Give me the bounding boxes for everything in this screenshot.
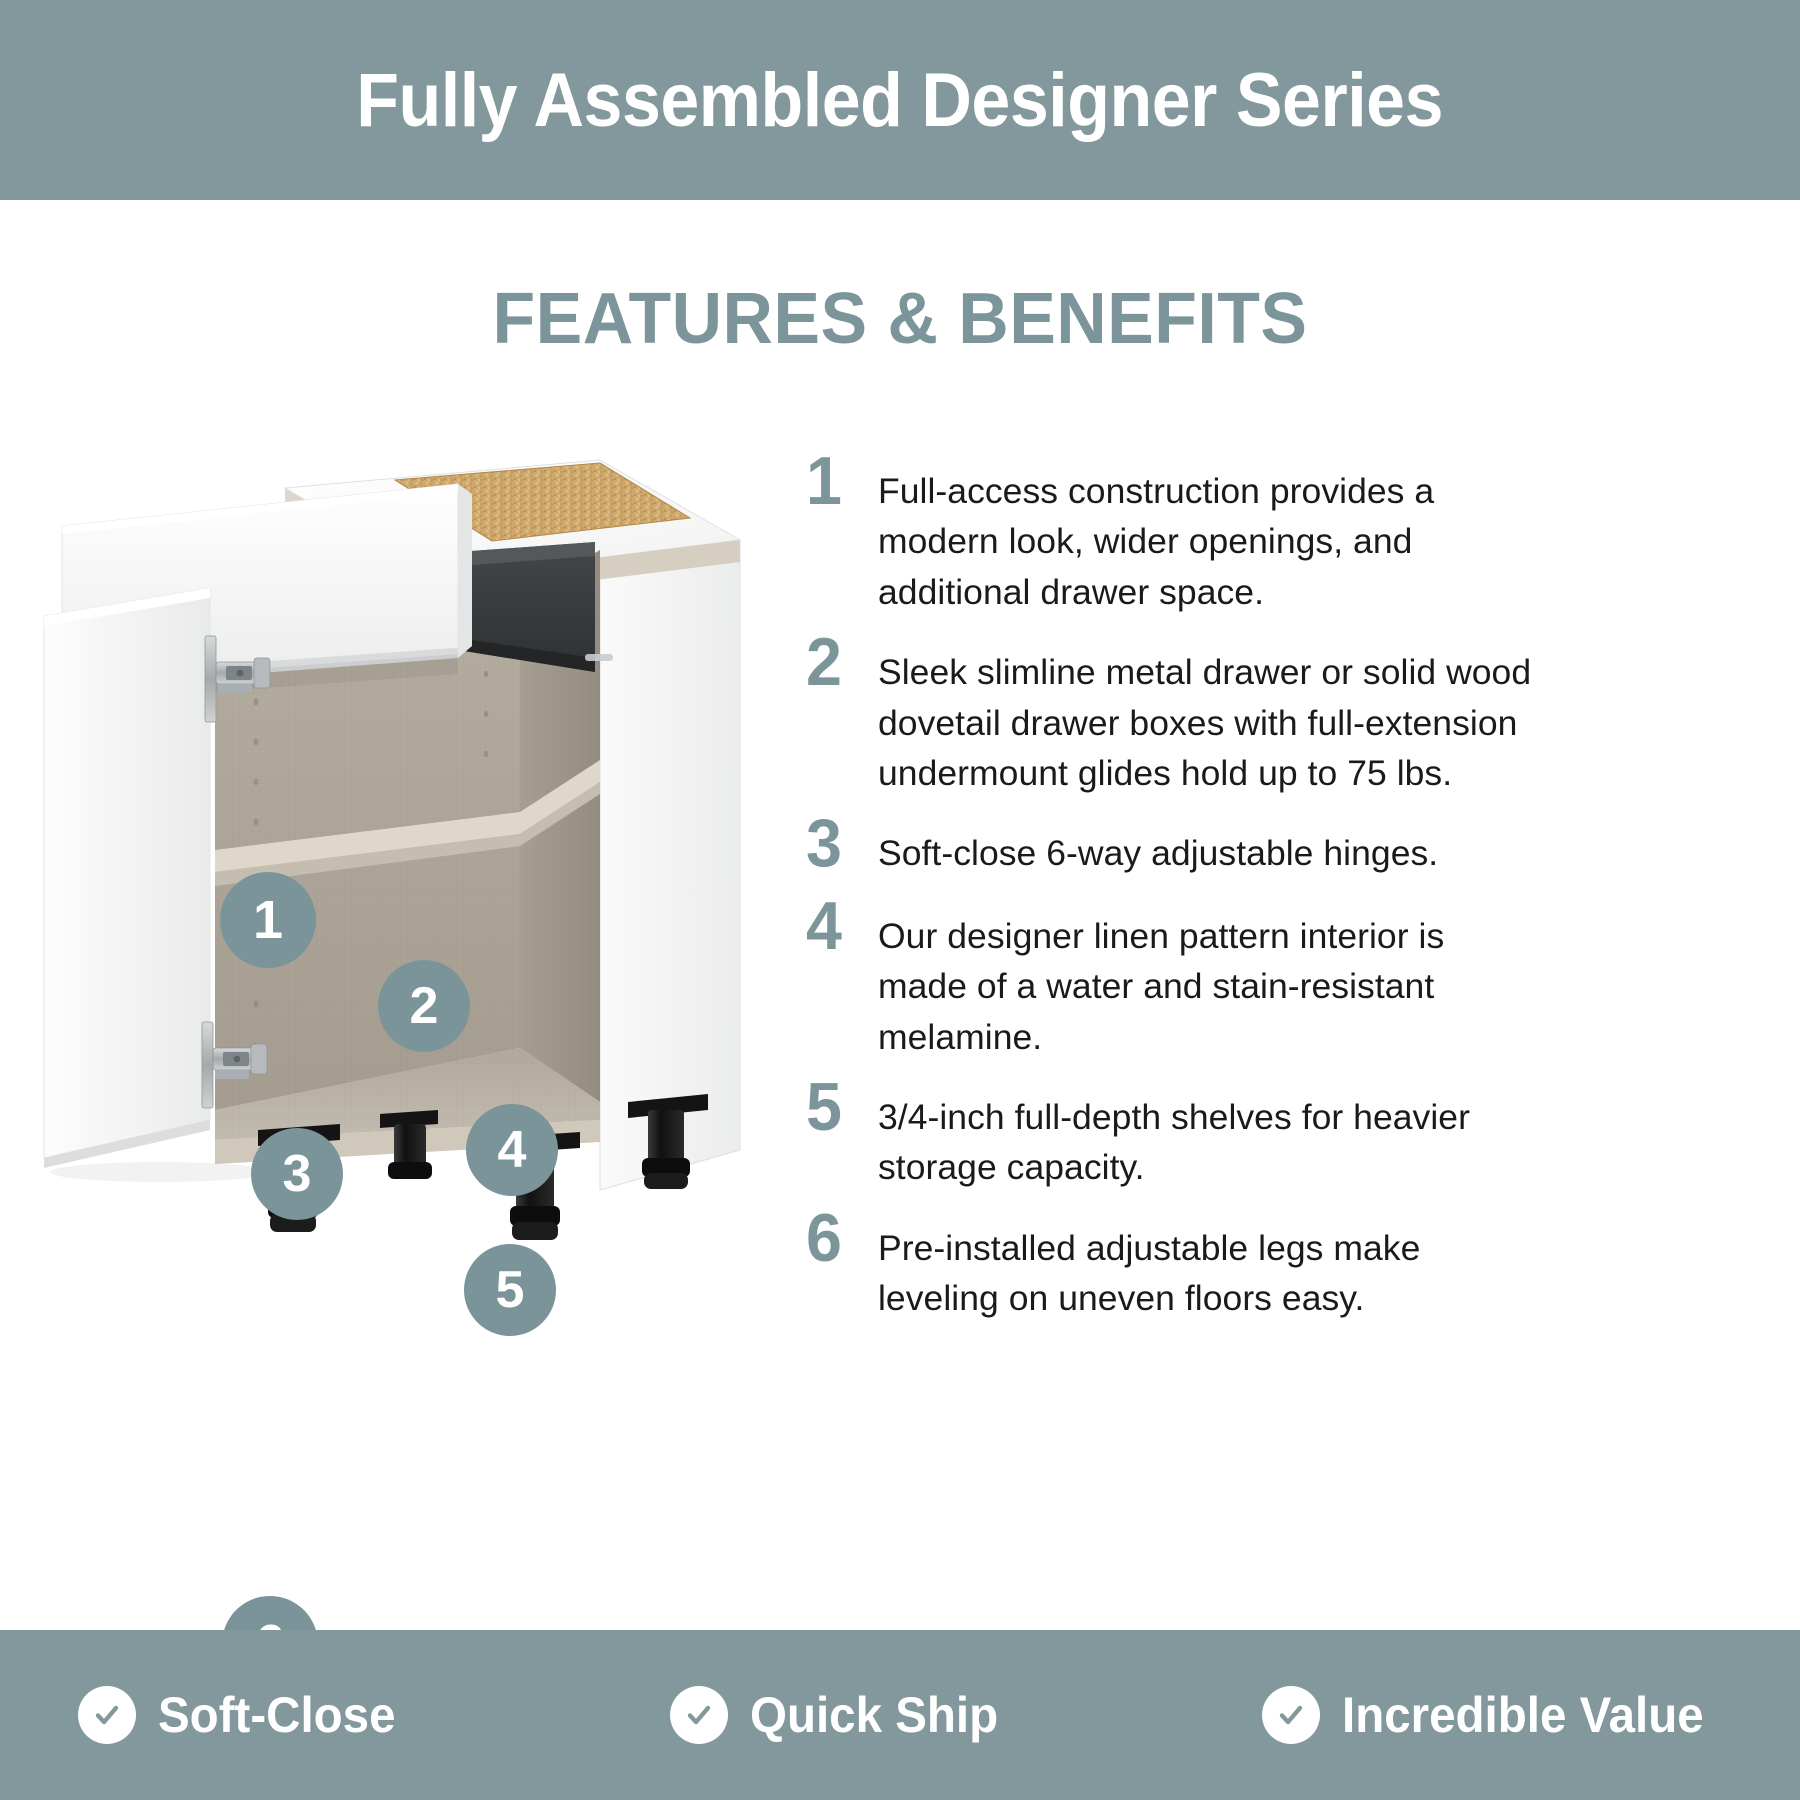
footer-item-quick-ship: Quick Ship — [670, 1686, 1011, 1744]
section-heading: FEATURES & BENEFITS — [27, 278, 1773, 360]
feature-text-3: Soft-close 6-way adjustable hinges. — [878, 814, 1536, 878]
feature-number-4: 4 — [806, 897, 874, 955]
feature-item-1: 1 Full-access construction provides a mo… — [806, 452, 1536, 617]
feature-number-6: 6 — [806, 1209, 874, 1267]
footer-item-soft-close: Soft-Close — [78, 1686, 408, 1744]
cabinet-side-panel — [600, 508, 740, 1190]
footer-label-incredible-value: Incredible Value — [1342, 1686, 1704, 1744]
cabinet-door-panel — [44, 588, 210, 1158]
undermount-glide — [585, 654, 613, 661]
callout-badge-3[interactable]: 3 — [251, 1128, 343, 1220]
feature-item-5: 5 3/4-inch full-depth shelves for heavie… — [806, 1078, 1536, 1193]
check-circle-icon — [78, 1686, 136, 1744]
feature-text-4: Our designer linen pattern interior is m… — [878, 897, 1536, 1062]
callout-badge-2[interactable]: 2 — [378, 960, 470, 1052]
callout-badge-1[interactable]: 1 — [220, 872, 316, 968]
feature-number-3: 3 — [806, 814, 874, 872]
header-bar: Fully Assembled Designer Series — [0, 0, 1800, 200]
drawer-front-right-edge — [458, 484, 472, 658]
check-circle-icon — [1262, 1686, 1320, 1744]
feature-item-2: 2 Sleek slimline metal drawer or solid w… — [806, 633, 1536, 798]
page-title: Fully Assembled Designer Series — [357, 57, 1444, 144]
feature-number-2: 2 — [806, 633, 874, 691]
cabinet-diagram-svg — [40, 430, 800, 1320]
feature-text-1: Full-access construction provides a mode… — [878, 452, 1536, 617]
callout-badge-5-label: 5 — [496, 1264, 525, 1316]
footer-label-quick-ship: Quick Ship — [750, 1686, 998, 1744]
infographic-page: Fully Assembled Designer Series FEATURES… — [0, 0, 1800, 1800]
feature-text-2: Sleek slimline metal drawer or solid woo… — [878, 633, 1536, 798]
check-circle-icon — [670, 1686, 728, 1744]
footer-label-soft-close: Soft-Close — [158, 1686, 396, 1744]
feature-text-5: 3/4-inch full-depth shelves for heavier … — [878, 1078, 1536, 1193]
footer-item-incredible-value: Incredible Value — [1262, 1686, 1723, 1744]
feature-item-6: 6 Pre-installed adjustable legs make lev… — [806, 1209, 1536, 1324]
callout-badge-2-label: 2 — [410, 980, 439, 1032]
footer-bar: Soft-Close Quick Ship Incredible Value — [0, 1630, 1800, 1800]
feature-number-5: 5 — [806, 1078, 874, 1136]
callout-badge-1-label: 1 — [253, 893, 283, 947]
feature-number-1: 1 — [806, 452, 874, 510]
callout-badge-4-label: 4 — [498, 1124, 527, 1176]
callout-badge-3-label: 3 — [283, 1148, 312, 1200]
product-illustration: 1 2 3 4 5 6 — [40, 430, 800, 1320]
feature-item-3: 3 Soft-close 6-way adjustable hinges. — [806, 814, 1536, 878]
feature-item-4: 4 Our designer linen pattern interior is… — [806, 897, 1536, 1062]
callout-badge-5[interactable]: 5 — [464, 1244, 556, 1336]
feature-text-6: Pre-installed adjustable legs make level… — [878, 1209, 1536, 1324]
features-list: 1 Full-access construction provides a mo… — [806, 452, 1536, 1338]
footer-benefits: Soft-Close Quick Ship Incredible Value — [0, 1630, 1800, 1800]
door-floor-shadow — [50, 1162, 270, 1182]
callout-badge-4[interactable]: 4 — [466, 1104, 558, 1196]
